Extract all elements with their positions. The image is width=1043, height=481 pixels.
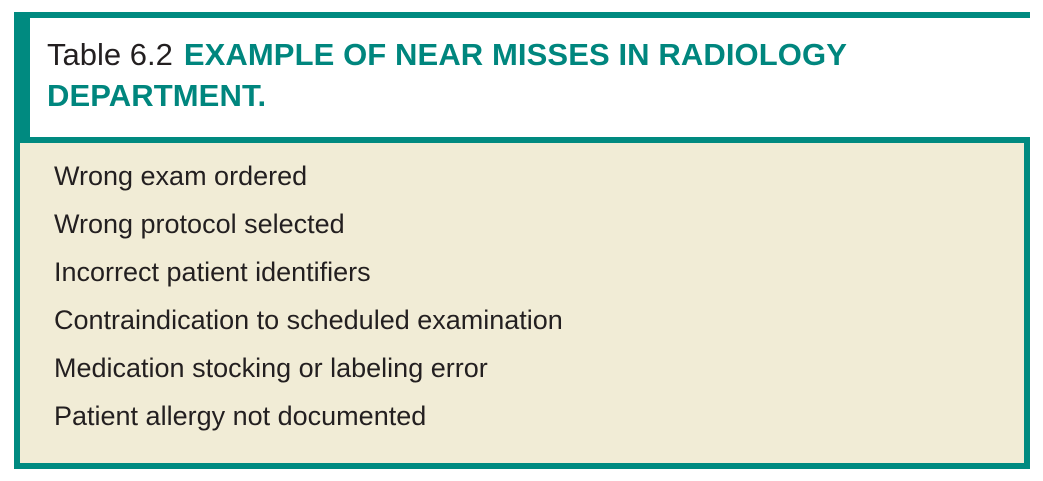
list-item: Wrong protocol selected (54, 200, 563, 248)
table-body: Wrong exam ordered Wrong protocol select… (14, 137, 1030, 469)
table-title: Table 6.2EXAMPLE OF NEAR MISSES IN RADIO… (47, 34, 1007, 116)
list-item: Patient allergy not documented (54, 392, 563, 440)
near-miss-list: Wrong exam ordered Wrong protocol select… (54, 152, 563, 440)
list-item: Medication stocking or labeling error (54, 344, 563, 392)
table-header: Table 6.2EXAMPLE OF NEAR MISSES IN RADIO… (30, 12, 1030, 131)
list-item: Wrong exam ordered (54, 152, 563, 200)
table-number: Table 6.2 (47, 37, 173, 72)
table-figure: Table 6.2EXAMPLE OF NEAR MISSES IN RADIO… (0, 0, 1043, 481)
list-item: Contraindication to scheduled examinatio… (54, 296, 563, 344)
list-item: Incorrect patient identifiers (54, 248, 563, 296)
